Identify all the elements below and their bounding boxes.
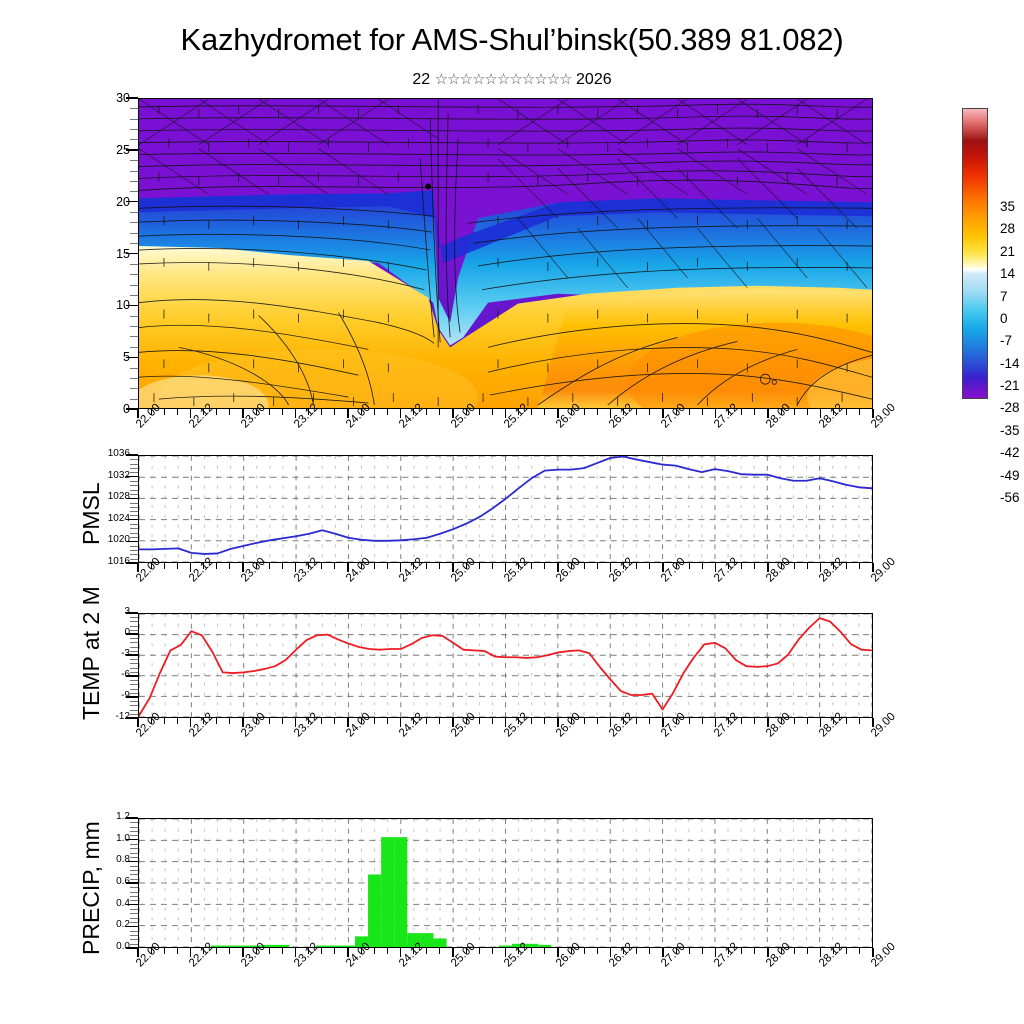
pmsl-y-tick-label: 1016: [80, 557, 130, 567]
colorbar-tick-label: 21: [1000, 244, 1015, 259]
temp-y-tick-label: 3: [80, 607, 130, 617]
temp-y-minor-tick: [130, 663, 138, 664]
cross-section-x-minor-tick: [649, 409, 650, 415]
pmsl-x-minor-tick: [636, 563, 637, 569]
cross-section-x-minor-tick: [164, 409, 165, 415]
pmsl-x-tick-label: 29.00: [869, 556, 898, 585]
cross-section-y-minor-tick: [130, 264, 138, 265]
cross-section-x-minor-tick: [216, 409, 217, 415]
grid: [139, 819, 872, 947]
colorbar-tick-label: -28: [1000, 400, 1020, 415]
cross-section-y-minor-tick: [130, 316, 138, 317]
cross-section-x-minor-tick: [544, 409, 545, 415]
pmsl-y-tick-label: 1036: [80, 449, 130, 459]
pmsl-x-minor-tick: [269, 563, 270, 569]
pmsl-x-minor-tick: [531, 563, 532, 569]
temp-x-minor-tick: [807, 718, 808, 724]
pmsl-x-minor-tick: [479, 563, 480, 569]
colorbar-tick-label: -35: [1000, 423, 1020, 438]
cross-section-x-minor-tick: [689, 409, 690, 415]
temp-x-minor-tick: [387, 718, 388, 724]
colorbar-tick-label: 14: [1000, 266, 1015, 281]
temp-y-tick-label: -3: [80, 649, 130, 659]
precip-y-minor-tick: [130, 939, 138, 940]
precip-y-minor-tick: [130, 848, 138, 849]
precip-x-minor-tick: [216, 948, 217, 954]
temp-y-minor-tick: [130, 638, 138, 639]
temp-x-minor-tick: [846, 718, 847, 724]
pmsl-y-tick: [126, 541, 138, 542]
pmsl-y-minor-tick: [130, 537, 138, 538]
temp-x-minor-tick: [334, 718, 335, 724]
pmsl-y-minor-tick: [130, 503, 138, 504]
temp-y-minor-tick: [130, 621, 138, 622]
precip-y-minor-tick: [130, 857, 138, 858]
temp-x-minor-tick: [544, 718, 545, 724]
grid: [139, 614, 872, 717]
precip-x-minor-tick: [531, 948, 532, 954]
temp-y-tick: [126, 717, 138, 718]
cross-section-x-minor-tick: [269, 409, 270, 415]
cross-section-y-tick-label: 30: [80, 92, 130, 105]
precip-x-minor-tick: [584, 948, 585, 954]
cross-section-x-minor-tick: [177, 409, 178, 415]
pmsl-y-minor-tick: [130, 494, 138, 495]
precip-y-tick: [126, 817, 138, 818]
cross-section-canvas: [139, 99, 872, 408]
temp-y-tick: [126, 696, 138, 697]
pmsl-y-tick: [126, 498, 138, 499]
cross-section-x-minor-tick: [794, 409, 795, 415]
pmsl-x-minor-tick: [597, 563, 598, 569]
cross-section-y-tick-label: 20: [80, 196, 130, 209]
precip-y-tick: [126, 904, 138, 905]
precip-x-minor-tick: [321, 948, 322, 954]
subtitle-day: 22: [412, 71, 430, 88]
precip-y-minor-tick: [130, 844, 138, 845]
precip-x-minor-tick: [807, 948, 808, 954]
precip-y-tick: [126, 861, 138, 862]
colorbar-tick-label: -14: [1000, 356, 1020, 371]
cross-section-y-minor-tick: [130, 347, 138, 348]
temp-y-minor-tick: [130, 701, 138, 702]
pmsl-y-tick: [126, 454, 138, 455]
temp-y-minor-tick: [130, 626, 138, 627]
temp-y-minor-tick: [130, 659, 138, 660]
precip-y-minor-tick: [130, 874, 138, 875]
temp-y-minor-tick: [130, 693, 138, 694]
pmsl-y-minor-tick: [130, 554, 138, 555]
pmsl-y-minor-tick: [130, 528, 138, 529]
temp-x-minor-tick: [426, 718, 427, 724]
pmsl-y-minor-tick: [130, 546, 138, 547]
temp-x-minor-tick: [269, 718, 270, 724]
temp-y-minor-tick: [130, 689, 138, 690]
colorbar-tick-label: -56: [1000, 490, 1020, 505]
temp-x-minor-tick: [374, 718, 375, 724]
temp-y-minor-tick: [130, 617, 138, 618]
temp-x-minor-tick: [492, 718, 493, 724]
temp-x-minor-tick: [741, 718, 742, 724]
precip-x-minor-tick: [479, 948, 480, 954]
cross-section-x-minor-tick: [479, 409, 480, 415]
temp-x-tick-label: 29.00: [869, 711, 898, 740]
pmsl-x-minor-tick: [229, 563, 230, 569]
cross-section-x-minor-tick: [531, 409, 532, 415]
precip-x-minor-tick: [282, 948, 283, 954]
temp-y-tick: [126, 633, 138, 634]
cross-section-y-minor-tick: [130, 274, 138, 275]
pmsl-line-series: [139, 456, 872, 562]
pmsl-y-minor-tick: [130, 515, 138, 516]
cross-section-y-minor-tick: [130, 285, 138, 286]
pmsl-x-minor-tick: [741, 563, 742, 569]
cross-section-y-tick: [126, 149, 138, 150]
cross-section-y-minor-tick: [130, 368, 138, 369]
temp-y-minor-tick: [130, 651, 138, 652]
pmsl-y-minor-tick: [130, 507, 138, 508]
pmsl-x-minor-tick: [164, 563, 165, 569]
cross-section-x-minor-tick: [374, 409, 375, 415]
cross-section-x-minor-tick: [846, 409, 847, 415]
cross-section-y-minor-tick: [130, 139, 138, 140]
precip-y-minor-tick: [130, 827, 138, 828]
cross-section-y-minor-tick: [130, 295, 138, 296]
pmsl-plot: [138, 455, 873, 563]
cross-section-y-tick-label: 10: [80, 299, 130, 312]
temp-y-minor-tick: [130, 710, 138, 711]
precip-y-minor-tick: [130, 922, 138, 923]
grid: [139, 456, 872, 562]
temp-y-tick-label: -9: [80, 691, 130, 701]
precip-y-minor-tick: [130, 900, 138, 901]
temp-plot: [138, 613, 873, 718]
temp-x-minor-tick: [229, 718, 230, 724]
temp-y-minor-tick: [130, 714, 138, 715]
precip-y-minor-tick: [130, 944, 138, 945]
precip-x-minor-tick: [636, 948, 637, 954]
precip-y-tick: [126, 926, 138, 927]
precip-y-minor-tick: [130, 870, 138, 871]
colorbar-tick-label: -49: [1000, 468, 1020, 483]
temp-y-tick: [126, 675, 138, 676]
temp-y-tick-label: -6: [80, 670, 130, 680]
temp-x-minor-tick: [164, 718, 165, 724]
temp-x-minor-tick: [649, 718, 650, 724]
temp-x-minor-tick: [597, 718, 598, 724]
precip-y-tick-label: 0.0: [80, 942, 130, 952]
precip-y-tick: [126, 882, 138, 883]
temp-x-minor-tick: [702, 718, 703, 724]
cross-section-y-minor-tick: [130, 129, 138, 130]
temp-line-series: [139, 614, 872, 717]
cross-section-x-tick-label: 29.00: [869, 402, 898, 431]
precip-y-minor-tick: [130, 879, 138, 880]
cross-section-y-minor-tick: [130, 212, 138, 213]
temp-x-minor-tick: [479, 718, 480, 724]
meteogram-page: Kazhydromet for AMS-Shul’binsk(50.389 81…: [0, 0, 1024, 1024]
colorbar-tick-label: 0: [1000, 311, 1008, 326]
cross-section-y-minor-tick: [130, 388, 138, 389]
pmsl-y-minor-tick: [130, 485, 138, 486]
temp-x-minor-tick: [794, 718, 795, 724]
precip-x-minor-tick: [334, 948, 335, 954]
temp-x-minor-tick: [636, 718, 637, 724]
cross-section-plot: [138, 98, 873, 409]
pmsl-x-minor-tick: [177, 563, 178, 569]
pmsl-x-minor-tick: [754, 563, 755, 569]
pmsl-y-minor-tick: [130, 524, 138, 525]
temp-y-tick: [126, 612, 138, 613]
cross-section-y-minor-tick: [130, 233, 138, 234]
pmsl-x-minor-tick: [794, 563, 795, 569]
pmsl-x-minor-tick: [321, 563, 322, 569]
precip-x-minor-tick: [597, 948, 598, 954]
precip-y-tick: [126, 839, 138, 840]
pmsl-x-minor-tick: [439, 563, 440, 569]
cross-section-x-minor-tick: [426, 409, 427, 415]
cross-section-y-tick: [126, 357, 138, 358]
pmsl-x-minor-tick: [374, 563, 375, 569]
temp-y-minor-tick: [130, 680, 138, 681]
temp-y-tick-label: 0: [80, 628, 130, 638]
pmsl-y-minor-tick: [130, 490, 138, 491]
pmsl-x-minor-tick: [584, 563, 585, 569]
precip-y-tick: [126, 947, 138, 948]
cross-section-y-minor-tick: [130, 399, 138, 400]
pmsl-x-minor-tick: [426, 563, 427, 569]
pmsl-y-tick-label: 1032: [80, 471, 130, 481]
temp-x-minor-tick: [859, 718, 860, 724]
pmsl-x-minor-tick: [859, 563, 860, 569]
precip-y-minor-tick: [130, 909, 138, 910]
cross-section-y-minor-tick: [130, 160, 138, 161]
precip-x-minor-tick: [846, 948, 847, 954]
pmsl-y-minor-tick: [130, 559, 138, 560]
precip-y-minor-tick: [130, 822, 138, 823]
precip-y-minor-tick: [130, 892, 138, 893]
page-title: Kazhydromet for AMS-Shul’binsk(50.389 81…: [0, 22, 1024, 58]
cross-section-x-minor-tick: [754, 409, 755, 415]
temp-x-minor-tick: [321, 718, 322, 724]
pmsl-y-minor-tick: [130, 464, 138, 465]
precip-x-minor-tick: [794, 948, 795, 954]
pmsl-x-minor-tick: [492, 563, 493, 569]
pmsl-x-minor-tick: [387, 563, 388, 569]
temp-y-minor-tick: [130, 672, 138, 673]
cross-section-y-minor-tick: [130, 181, 138, 182]
temp-x-minor-tick: [216, 718, 217, 724]
precip-y-minor-tick: [130, 887, 138, 888]
pmsl-y-minor-tick: [130, 459, 138, 460]
cross-section-x-minor-tick: [387, 409, 388, 415]
precip-x-minor-tick: [164, 948, 165, 954]
temp-x-minor-tick: [439, 718, 440, 724]
pmsl-x-minor-tick: [649, 563, 650, 569]
colorbar-tick-label: 28: [1000, 221, 1015, 236]
cross-section-y-minor-tick: [130, 108, 138, 109]
temp-x-minor-tick: [754, 718, 755, 724]
cross-section-x-minor-tick: [282, 409, 283, 415]
temp-y-tick: [126, 654, 138, 655]
cross-section-x-minor-tick: [321, 409, 322, 415]
pmsl-y-tick-label: 1028: [80, 492, 130, 502]
cross-section-y-tick-label: 25: [80, 144, 130, 157]
precip-x-minor-tick: [374, 948, 375, 954]
precip-y-tick-label: 1.0: [80, 834, 130, 844]
colorbar-tick-label: -42: [1000, 445, 1020, 460]
precip-x-minor-tick: [387, 948, 388, 954]
temp-x-minor-tick: [177, 718, 178, 724]
precip-x-minor-tick: [754, 948, 755, 954]
precip-x-minor-tick: [177, 948, 178, 954]
subtitle-year: 2026: [576, 71, 612, 88]
precip-y-minor-tick: [130, 935, 138, 936]
pmsl-y-minor-tick: [130, 533, 138, 534]
cross-section-x-minor-tick: [492, 409, 493, 415]
precip-y-tick-label: 0.8: [80, 855, 130, 865]
temp-y-minor-tick: [130, 705, 138, 706]
colorbar-tick-label: 7: [1000, 289, 1008, 304]
precip-y-minor-tick: [130, 866, 138, 867]
cross-section-y-minor-tick: [130, 222, 138, 223]
precip-y-minor-tick: [130, 931, 138, 932]
pmsl-y-minor-tick: [130, 481, 138, 482]
cross-section-x-minor-tick: [334, 409, 335, 415]
pmsl-x-minor-tick: [544, 563, 545, 569]
temp-y-minor-tick: [130, 684, 138, 685]
cross-section-x-minor-tick: [439, 409, 440, 415]
precip-y-minor-tick: [130, 831, 138, 832]
pmsl-y-tick: [126, 562, 138, 563]
colorbar-tick-label: 35: [1000, 199, 1015, 214]
pmsl-x-minor-tick: [846, 563, 847, 569]
precip-y-minor-tick: [130, 913, 138, 914]
cross-section-y-minor-tick: [130, 119, 138, 120]
precip-y-minor-tick: [130, 896, 138, 897]
cross-section-x-minor-tick: [859, 409, 860, 415]
precip-x-minor-tick: [492, 948, 493, 954]
precip-y-tick-label: 0.6: [80, 877, 130, 887]
precip-y-tick-label: 0.4: [80, 899, 130, 909]
precip-x-minor-tick: [689, 948, 690, 954]
precip-x-minor-tick: [426, 948, 427, 954]
temp-y-minor-tick: [130, 668, 138, 669]
temp-x-minor-tick: [689, 718, 690, 724]
pmsl-x-minor-tick: [702, 563, 703, 569]
pmsl-y-tick-label: 1024: [80, 514, 130, 524]
precip-x-minor-tick: [649, 948, 650, 954]
precip-y-tick-label: 1.2: [80, 812, 130, 822]
cross-section-y-tick: [126, 201, 138, 202]
cross-section-x-minor-tick: [807, 409, 808, 415]
cross-section-x-minor-tick: [229, 409, 230, 415]
precip-y-minor-tick: [130, 853, 138, 854]
cross-section-y-tick-label: 15: [80, 248, 130, 261]
precip-y-minor-tick: [130, 835, 138, 836]
cross-section-y-tick: [126, 305, 138, 306]
pmsl-y-minor-tick: [130, 468, 138, 469]
pmsl-y-minor-tick: [130, 472, 138, 473]
pmsl-y-minor-tick: [130, 511, 138, 512]
cross-section-y-tick: [126, 253, 138, 254]
cross-section-y-minor-tick: [130, 171, 138, 172]
cross-section-y-tick: [126, 408, 138, 409]
colorbar-tick-label: -7: [1000, 333, 1012, 348]
precip-plot: [138, 818, 873, 948]
precip-x-minor-tick: [859, 948, 860, 954]
cross-section-y-minor-tick: [130, 336, 138, 337]
precip-x-minor-tick: [544, 948, 545, 954]
pmsl-x-minor-tick: [807, 563, 808, 569]
cross-section-y-tick-label: 0: [80, 403, 130, 416]
pmsl-y-tick: [126, 519, 138, 520]
cross-section-y-minor-tick: [130, 243, 138, 244]
cross-section-x-minor-tick: [741, 409, 742, 415]
precip-y-minor-tick: [130, 918, 138, 919]
cross-section-y-minor-tick: [130, 378, 138, 379]
temp-y-minor-tick: [130, 642, 138, 643]
cross-section-x-minor-tick: [636, 409, 637, 415]
precip-bar-series: [139, 819, 872, 947]
cross-section-y-minor-tick: [130, 191, 138, 192]
temp-x-minor-tick: [584, 718, 585, 724]
pmsl-y-minor-tick: [130, 550, 138, 551]
precip-x-minor-tick: [741, 948, 742, 954]
precip-x-tick-label: 29.00: [869, 941, 898, 970]
pmsl-x-minor-tick: [334, 563, 335, 569]
cross-section-y-tick-label: 5: [80, 351, 130, 364]
cross-section-y-minor-tick: [130, 326, 138, 327]
cross-section-x-minor-tick: [597, 409, 598, 415]
precip-x-minor-tick: [439, 948, 440, 954]
pmsl-x-minor-tick: [216, 563, 217, 569]
temp-y-tick-label: -12: [80, 712, 130, 722]
colorbar-tick-label: -21: [1000, 378, 1020, 393]
precip-x-minor-tick: [702, 948, 703, 954]
temp-x-minor-tick: [531, 718, 532, 724]
cross-section-x-minor-tick: [584, 409, 585, 415]
pmsl-y-tick: [126, 476, 138, 477]
pmsl-y-tick-label: 1020: [80, 535, 130, 545]
precip-bars: [211, 837, 551, 947]
pmsl-x-minor-tick: [282, 563, 283, 569]
temperature-colorbar: [962, 108, 988, 399]
cross-section-y-tick: [126, 97, 138, 98]
precip-y-tick-label: 0.2: [80, 920, 130, 930]
temp-x-minor-tick: [282, 718, 283, 724]
cross-section-x-minor-tick: [702, 409, 703, 415]
temp-y-minor-tick: [130, 630, 138, 631]
precip-x-minor-tick: [269, 948, 270, 954]
date-subtitle: 22 ☆☆☆☆☆☆☆☆☆☆☆ 2026: [0, 70, 1024, 89]
temp-y-minor-tick: [130, 647, 138, 648]
precip-x-minor-tick: [229, 948, 230, 954]
subtitle-month-glyphs: ☆☆☆☆☆☆☆☆☆☆☆: [435, 71, 572, 88]
pmsl-x-minor-tick: [689, 563, 690, 569]
